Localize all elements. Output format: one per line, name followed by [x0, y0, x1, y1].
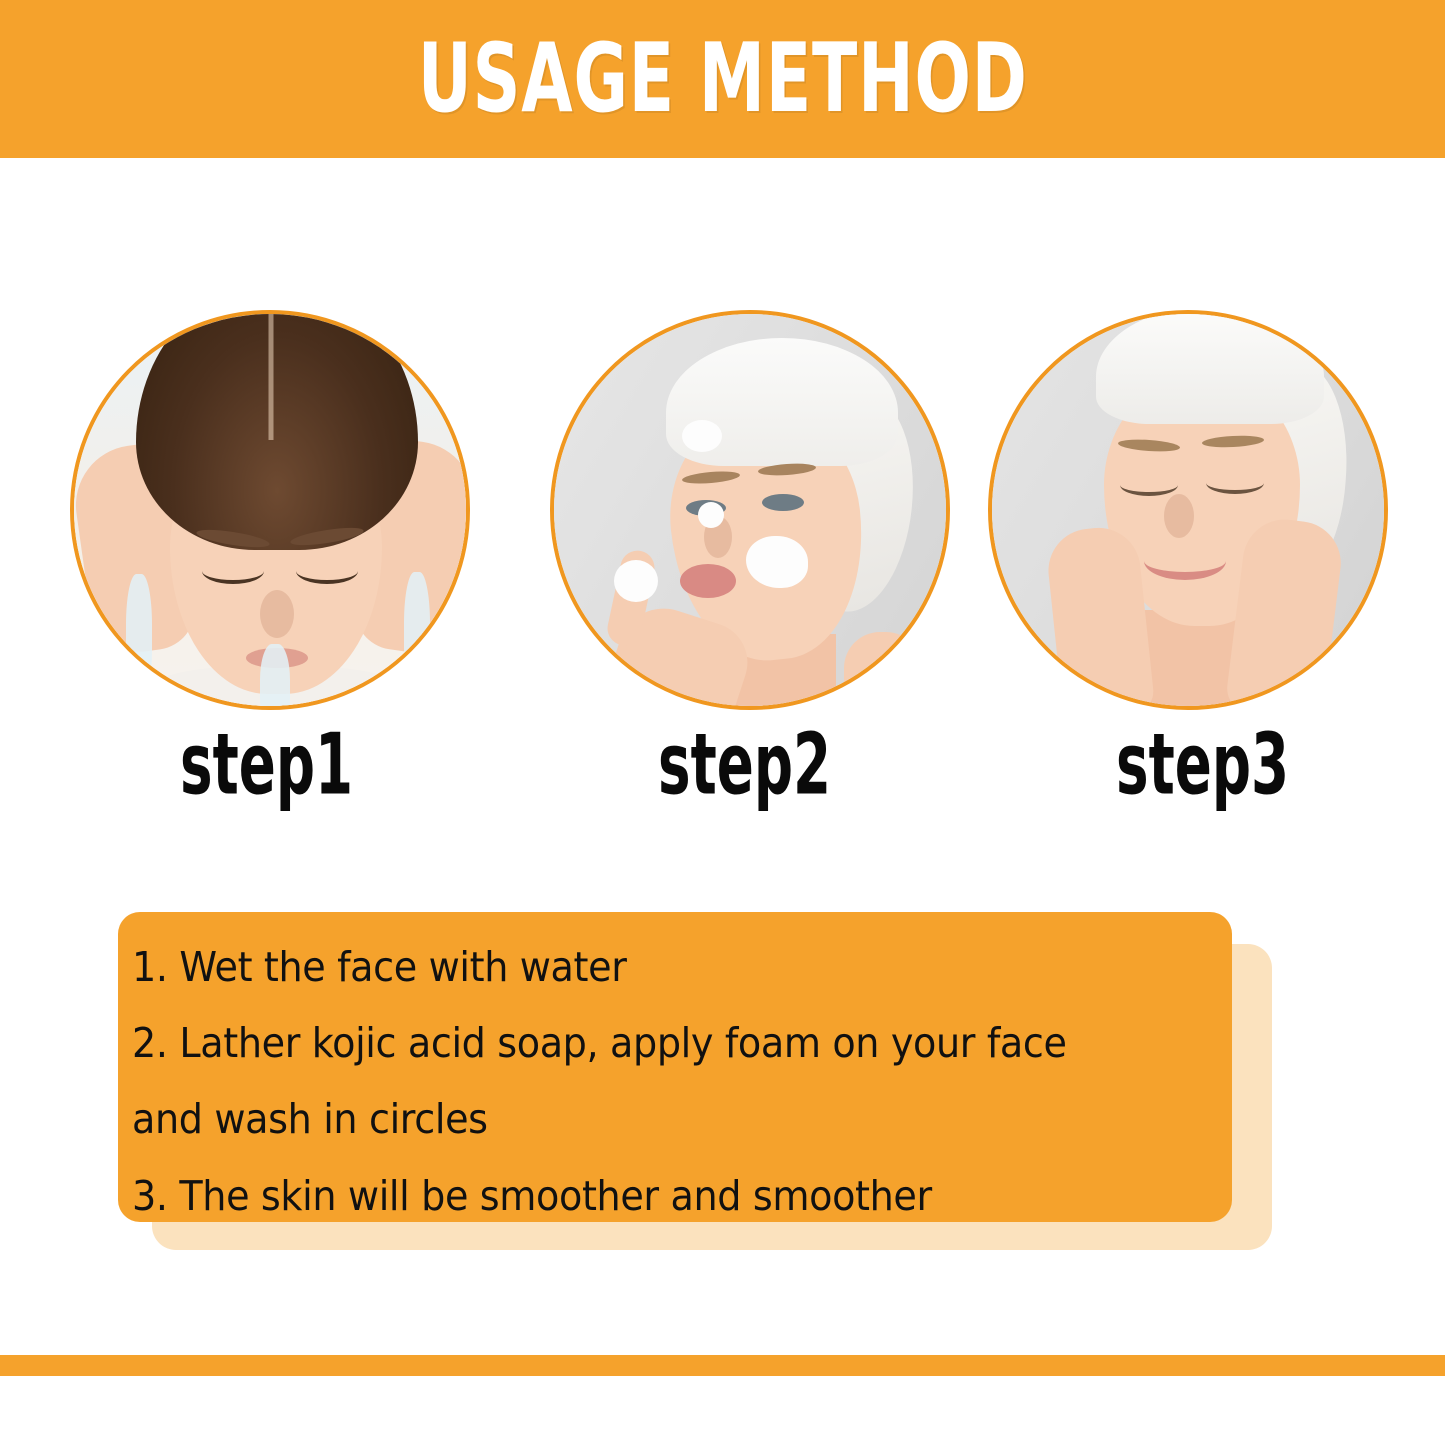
foam-nose	[698, 502, 724, 528]
nose-shadow	[1164, 494, 1194, 538]
step-label-2: step2	[658, 722, 831, 807]
hair-shape	[136, 314, 418, 550]
step-label-1: step1	[180, 722, 353, 807]
smiling-mouth	[1144, 542, 1226, 580]
steps-row: step1	[0, 310, 1445, 810]
foam-forehead	[682, 420, 722, 452]
step-image-3	[988, 310, 1388, 710]
towel-wrap	[1096, 314, 1324, 424]
instruction-line: 1. Wet the face with water	[132, 938, 1136, 996]
lips-pursed	[680, 564, 736, 598]
instruction-line: and wash in circles	[132, 1090, 1136, 1148]
scene-apply-foam	[554, 314, 946, 706]
step-item-2: step2	[550, 310, 954, 710]
left-closed-eye	[1120, 474, 1178, 496]
left-eyelash	[202, 558, 264, 584]
step-item-1: step1	[70, 310, 474, 710]
right-eyelash	[296, 558, 358, 584]
scene-smooth-skin	[992, 314, 1384, 706]
right-closed-eye	[1206, 472, 1264, 494]
instructions-list: 1. Wet the face with water 2. Lather koj…	[132, 938, 1212, 1225]
step-photo-1	[74, 314, 466, 706]
water-stream-left	[126, 574, 152, 700]
water-stream-center	[260, 644, 290, 706]
step-image-1	[70, 310, 470, 710]
step-photo-2	[554, 314, 946, 706]
page-title: USAGE METHOD	[418, 31, 1028, 126]
step-image-2	[550, 310, 950, 710]
instructions-panel: 1. Wet the face with water 2. Lather koj…	[118, 912, 1232, 1222]
right-eye	[762, 494, 804, 511]
footer-bar	[0, 1355, 1445, 1376]
nose-shadow	[260, 590, 294, 638]
step-item-3: step3	[988, 310, 1392, 710]
step-label-3: step3	[1116, 722, 1289, 807]
header-bar: USAGE METHOD	[0, 0, 1445, 158]
foam-cheek	[746, 536, 808, 588]
water-stream-right	[404, 572, 430, 700]
instruction-line: 3. The skin will be smoother and smoothe…	[132, 1167, 1136, 1225]
foam-on-finger	[614, 560, 658, 602]
scene-wash-face	[74, 314, 466, 706]
right-hand	[844, 632, 922, 706]
instruction-line: 2. Lather kojic acid soap, apply foam on…	[132, 1014, 1136, 1072]
step-photo-3	[992, 314, 1384, 706]
